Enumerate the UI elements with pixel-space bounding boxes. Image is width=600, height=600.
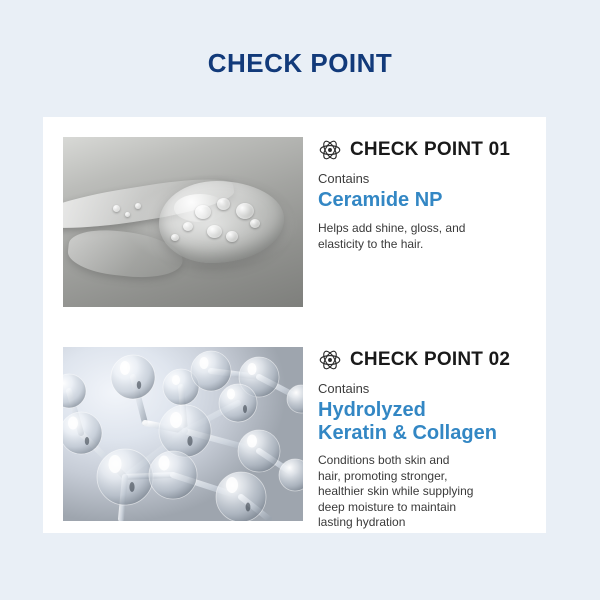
checkpoint-image-01 <box>63 137 303 307</box>
page-title: CHECK POINT <box>0 48 600 78</box>
checkpoint-row-01: CHECK POINT 01 Contains Ceramide NP Help… <box>63 137 533 307</box>
checkpoint-description-02: Conditions both skin and hair, promoting… <box>318 453 533 531</box>
atom-icon <box>318 348 342 372</box>
atom-icon <box>318 138 342 162</box>
checkpoint-title-01: CHECK POINT 01 <box>350 139 510 161</box>
molecule-graphic <box>63 347 303 521</box>
checkpoint-text-02: CHECK POINT 02 Contains Hydrolyzed Kerat… <box>303 347 533 531</box>
checkpoint-image-02 <box>63 347 303 521</box>
checkpoint-description-01: Helps add shine, gloss, and elasticity t… <box>318 221 533 252</box>
checkpoint-card: CHECK POINT 01 Contains Ceramide NP Help… <box>43 117 546 533</box>
checkpoint-row-02: CHECK POINT 02 Contains Hydrolyzed Kerat… <box>63 347 533 531</box>
ingredient-name-01: Ceramide NP <box>318 189 533 212</box>
contains-label-01: Contains <box>318 171 533 187</box>
ingredient-name-02: Hydrolyzed Keratin & Collagen <box>318 399 533 445</box>
checkpoint-title-02: CHECK POINT 02 <box>350 349 510 371</box>
contains-label-02: Contains <box>318 381 533 397</box>
checkpoint-text-01: CHECK POINT 01 Contains Ceramide NP Help… <box>303 137 533 252</box>
